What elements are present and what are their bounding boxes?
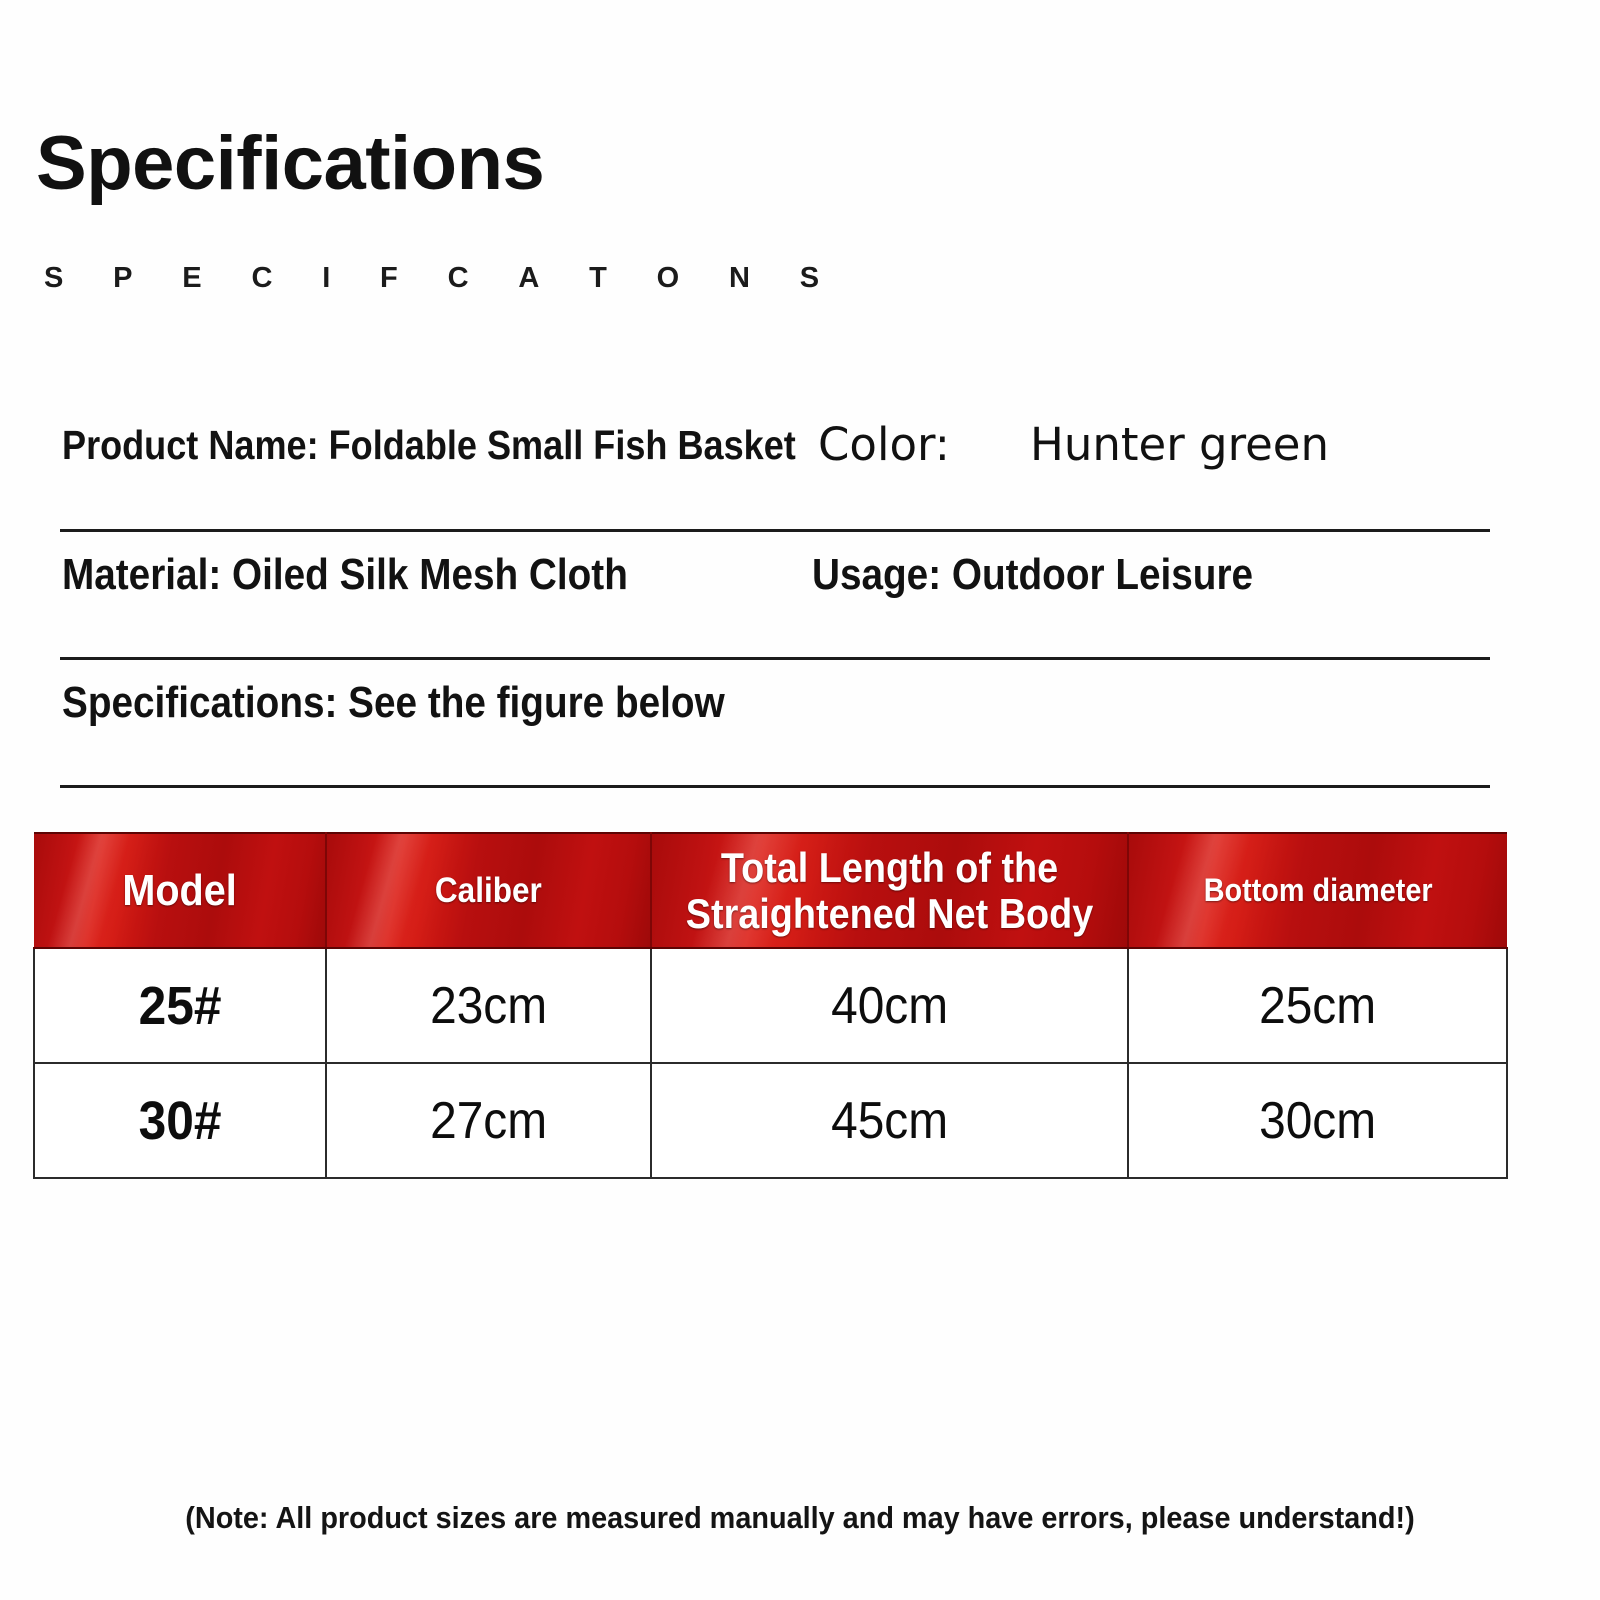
- cell-caliber: 27cm: [326, 1063, 651, 1178]
- cell-total-length: 45cm: [651, 1063, 1128, 1178]
- table-row: 25# 23cm 40cm 25cm: [34, 948, 1507, 1063]
- color-value: Hunter green: [1030, 418, 1329, 471]
- column-header-bottom-diameter: Bottom diameter: [1128, 833, 1507, 948]
- specifications-label: Specifications: See the figure below: [62, 678, 815, 728]
- page-subtitle: S P E C I F C A T O N S: [44, 264, 841, 293]
- usage-label: Usage: Outdoor Leisure: [812, 550, 1313, 600]
- product-name-label: Product Name: Foldable Small Fish Basket: [62, 422, 896, 469]
- spec-row-material: Material: Oiled Silk Mesh Cloth Usage: O…: [0, 532, 1600, 660]
- spec-row-product-name: Product Name: Foldable Small Fish Basket…: [0, 404, 1600, 532]
- material-label: Material: Oiled Silk Mesh Cloth: [62, 550, 705, 600]
- color-label: Color:: [818, 418, 950, 471]
- cell-caliber: 23cm: [326, 948, 651, 1063]
- spec-divider: [60, 785, 1490, 788]
- specification-list: Product Name: Foldable Small Fish Basket…: [0, 404, 1600, 788]
- cell-model: 25#: [34, 948, 326, 1063]
- column-header-caliber: Caliber: [326, 833, 651, 948]
- cell-model: 30#: [34, 1063, 326, 1178]
- spec-row-specifications: Specifications: See the figure below: [0, 660, 1600, 788]
- table-header-row: Model Caliber Total Length of the Straig…: [34, 833, 1507, 948]
- cell-bottom-diameter: 30cm: [1128, 1063, 1507, 1178]
- size-table: Model Caliber Total Length of the Straig…: [33, 832, 1508, 1179]
- footer-note: (Note: All product sizes are measured ma…: [0, 1500, 1600, 1536]
- footer-note-text: (Note: All product sizes are measured ma…: [185, 1500, 1414, 1536]
- cell-total-length: 40cm: [651, 948, 1128, 1063]
- specifications-page: Specifications S P E C I F C A T O N S P…: [0, 0, 1600, 1600]
- page-title: Specifications: [36, 126, 544, 202]
- column-header-model: Model: [34, 833, 326, 948]
- column-header-total-length: Total Length of the Straightened Net Bod…: [651, 833, 1128, 948]
- cell-bottom-diameter: 25cm: [1128, 948, 1507, 1063]
- table-row: 30# 27cm 45cm 30cm: [34, 1063, 1507, 1178]
